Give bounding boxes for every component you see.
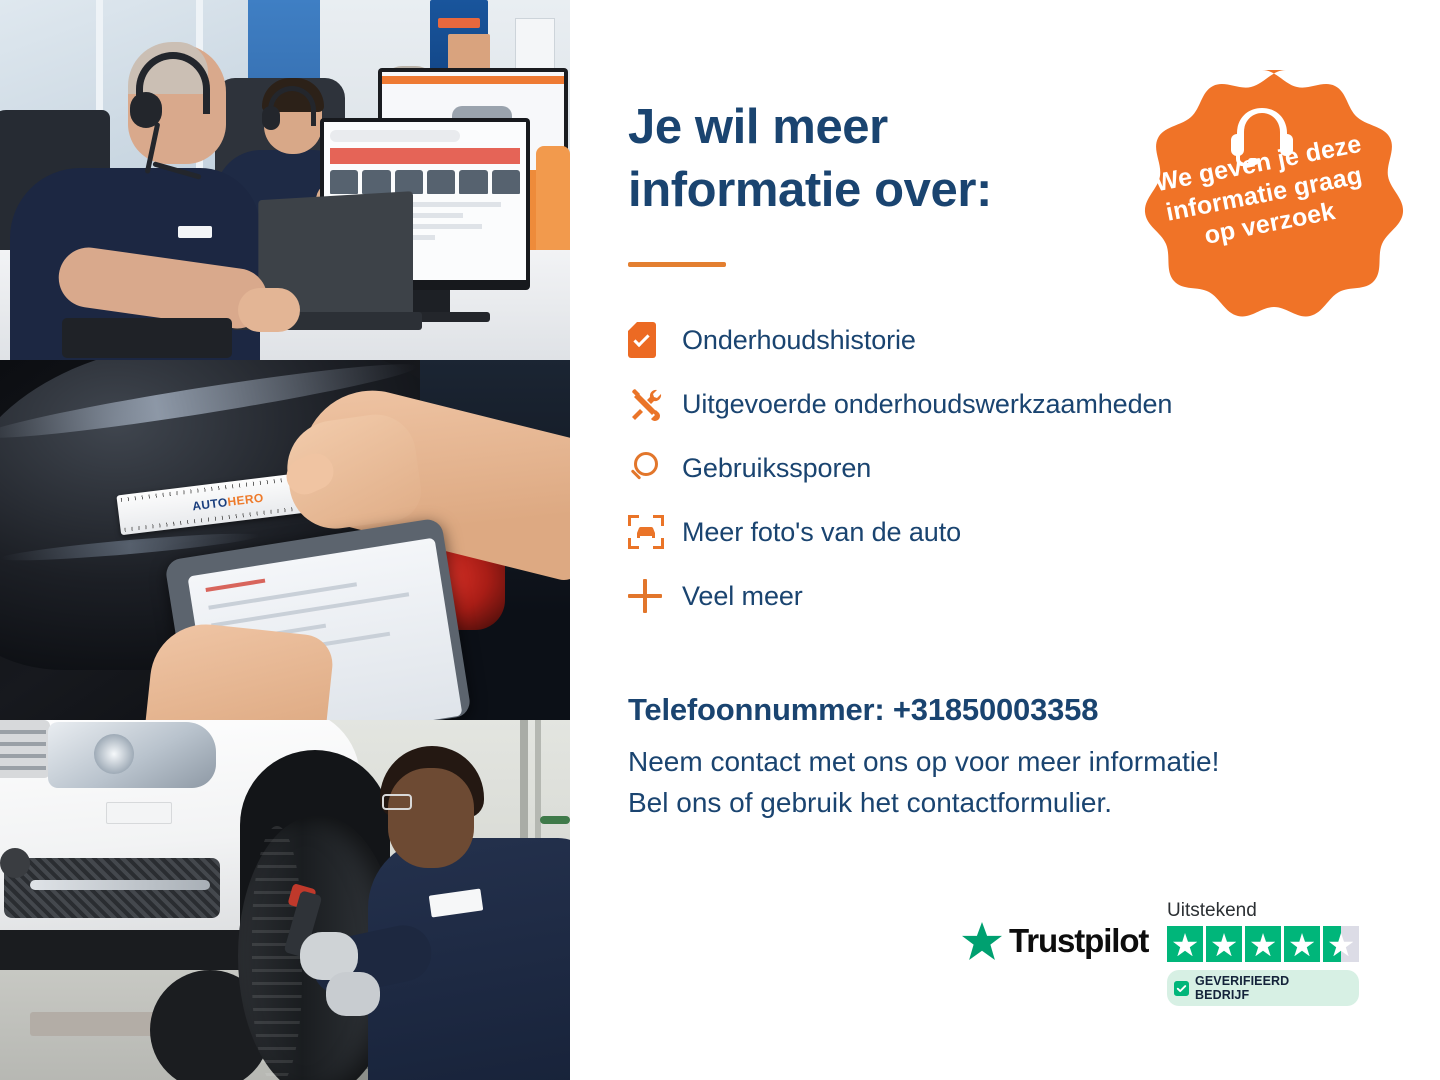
star-rating bbox=[1167, 926, 1359, 962]
feature-label: Gebruikssporen bbox=[682, 453, 871, 484]
magnifier-icon bbox=[628, 452, 682, 484]
contact-instructions: Neem contact met ons op voor meer inform… bbox=[628, 742, 1368, 823]
promo-page: AUTOHERO bbox=[0, 0, 1440, 1080]
document-check-icon bbox=[628, 322, 682, 358]
star-4 bbox=[1284, 926, 1320, 962]
car-inspection-ruler-photo: AUTOHERO bbox=[0, 360, 570, 720]
title-underline-accent bbox=[628, 262, 726, 267]
ruler-logo-hero: HERO bbox=[227, 491, 265, 509]
feature-item-more-photos: Meer foto's van de auto bbox=[628, 500, 1388, 564]
feature-label: Uitgevoerde onderhoudswerkzaamheden bbox=[682, 389, 1172, 420]
plus-icon bbox=[628, 579, 682, 613]
feature-list: Onderhoudshistorie Uitgevoerde onder bbox=[628, 308, 1388, 628]
star-3 bbox=[1245, 926, 1281, 962]
rating-label: Uitstekend bbox=[1167, 900, 1359, 922]
trustpilot-star-icon bbox=[962, 922, 1002, 960]
contact-line2: Bel ons of gebruik het contactformulier. bbox=[628, 787, 1112, 818]
tools-wrench-screwdriver-icon bbox=[628, 386, 682, 422]
trustpilot-rating: Uitstekend bbox=[1167, 900, 1359, 1006]
tire-service-photo bbox=[0, 720, 570, 1080]
headlight bbox=[48, 722, 216, 788]
phone-number: Telefoonnummer: +31850003358 bbox=[628, 692, 1098, 728]
star-1 bbox=[1167, 926, 1203, 962]
verified-business-badge: GEVERIFIEERD BEDRIJF bbox=[1167, 970, 1359, 1006]
feature-label: Veel meer bbox=[682, 581, 803, 612]
trustpilot-wordmark: Trustpilot bbox=[1009, 922, 1148, 960]
feature-item-maintenance-history: Onderhoudshistorie bbox=[628, 308, 1388, 372]
page-title-line1: Je wil meer bbox=[628, 100, 888, 154]
trustpilot-widget: Trustpilot Uitstekend bbox=[962, 900, 1342, 1010]
photo-column: AUTOHERO bbox=[0, 0, 570, 1080]
contact-line1: Neem contact met ons op voor meer inform… bbox=[628, 746, 1219, 777]
call-center-agents-photo bbox=[0, 0, 570, 360]
star-5-half bbox=[1323, 926, 1359, 962]
star-2 bbox=[1206, 926, 1242, 962]
feature-item-much-more: Veel meer bbox=[628, 564, 1388, 628]
feature-item-maintenance-work: Uitgevoerde onderhoudswerkzaamheden bbox=[628, 372, 1388, 436]
feature-item-usage-traces: Gebruikssporen bbox=[628, 436, 1388, 500]
verified-shield-icon bbox=[1174, 981, 1189, 996]
page-title-line2: informatie over: bbox=[628, 163, 992, 217]
verified-label: GEVERIFIEERD BEDRIJF bbox=[1195, 974, 1347, 1002]
ruler-logo-auto: AUTO bbox=[192, 495, 229, 513]
feature-label: Meer foto's van de auto bbox=[682, 517, 961, 548]
car-scan-icon bbox=[628, 515, 682, 549]
trustpilot-logo: Trustpilot bbox=[962, 922, 1148, 960]
feature-label: Onderhoudshistorie bbox=[682, 325, 916, 356]
content-panel: Je wil meer informatie over: We geven je… bbox=[570, 0, 1440, 1080]
page-title: Je wil meer informatie over: bbox=[628, 96, 1148, 221]
